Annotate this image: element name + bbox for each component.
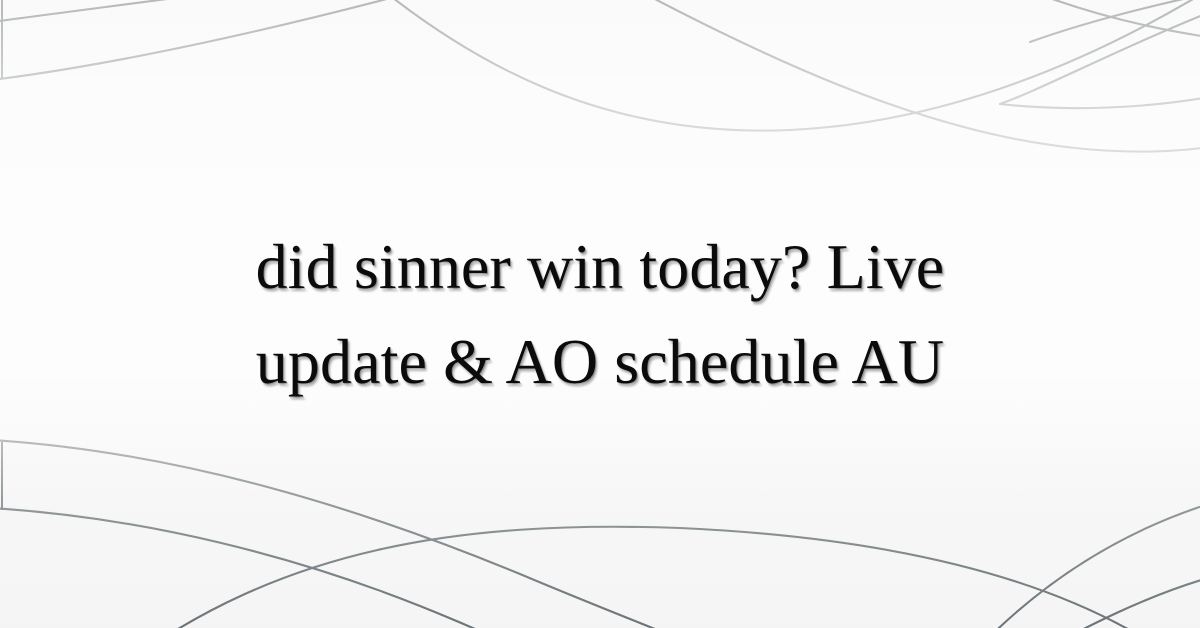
page-title: did sinner win today? Live update & AO s… — [110, 219, 1090, 409]
headline-container: did sinner win today? Live update & AO s… — [0, 0, 1200, 628]
social-share-card: did sinner win today? Live update & AO s… — [0, 0, 1200, 628]
